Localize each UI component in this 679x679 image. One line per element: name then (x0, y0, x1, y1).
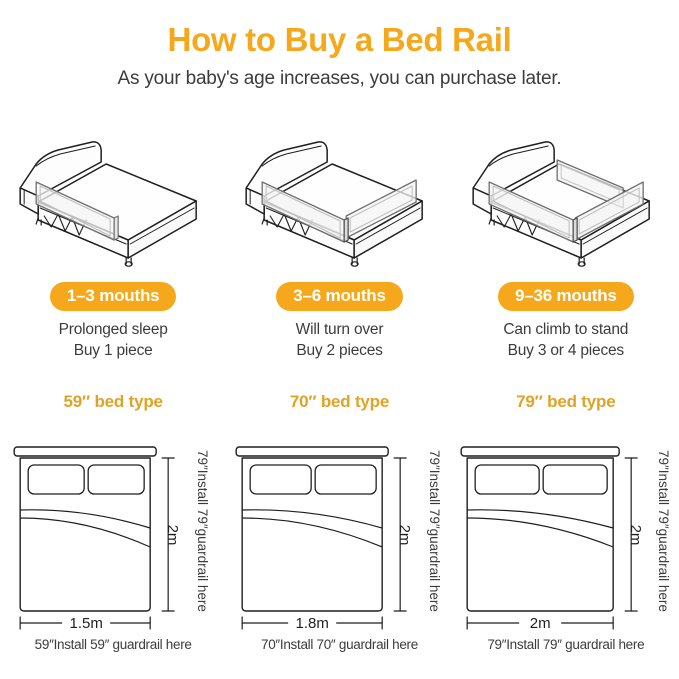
bed-plan-79-height-label: 2m (627, 525, 644, 546)
bed-plan-79-width-label: 2m (529, 615, 550, 632)
bed-type-59: 59″ bed type 2m (0, 392, 226, 662)
bed-plan-59-height-label: 2m (164, 525, 181, 546)
age-desc-2-line2: Buy 2 pieces (296, 341, 384, 362)
bed-plan-70-width-label: 1.8m (296, 615, 329, 632)
bed-type-row: 59″ bed type 2m (0, 392, 679, 662)
bed-illustration-2-rails (226, 128, 452, 268)
age-desc-3: Can climb to stand Buy 3 or 4 pieces (503, 320, 628, 362)
bed-type-70-title: 70″ bed type (290, 392, 389, 412)
age-badge-3: 9–36 mouths (498, 282, 634, 311)
age-stage-row: 1–3 mouths Prolonged sleep Buy 1 piece 3… (0, 282, 679, 362)
bed-plan-79-side-label: 79″Install 79″guardrail here (656, 450, 671, 612)
age-stage-1: 1–3 mouths Prolonged sleep Buy 1 piece (0, 282, 226, 362)
bed-plan-59-side-label: 79″Install 79″guardrail here (195, 450, 210, 612)
age-desc-1-line2: Buy 1 piece (59, 341, 168, 362)
age-badge-2: 3–6 mouths (276, 282, 402, 311)
bed-type-70: 70″ bed type 2m 79″Install 79″guardrail … (226, 392, 452, 662)
age-desc-1-line1: Prolonged sleep (59, 320, 168, 341)
bed-type-70-caption: 70″Install 70″ guardrail here (261, 637, 418, 652)
bed-plan-59-diagram: 2m 79″Install 79″guardrail here 1.5m (0, 418, 226, 633)
age-stage-2: 3–6 mouths Will turn over Buy 2 pieces (226, 282, 452, 362)
page-title: How to Buy a Bed Rail (0, 0, 679, 58)
bed-plan-70-diagram: 2m 79″Install 79″guardrail here 1.8m (226, 418, 452, 633)
age-desc-2: Will turn over Buy 2 pieces (296, 320, 384, 362)
bed-illustration-row (0, 128, 679, 268)
age-desc-2-line1: Will turn over (296, 320, 384, 341)
bed-type-59-title: 59″ bed type (64, 392, 163, 412)
bed-plan-59-width-label: 1.5m (69, 615, 102, 632)
infographic-page: How to Buy a Bed Rail As your baby's age… (0, 0, 679, 679)
bed-illustration-1-rail (0, 128, 226, 268)
bed-illustration-3-rails (453, 128, 679, 268)
age-desc-1: Prolonged sleep Buy 1 piece (59, 320, 168, 362)
age-desc-3-line1: Can climb to stand (503, 320, 628, 341)
bed-plan-70-side-label: 79″Install 79″guardrail here (427, 450, 442, 612)
page-subtitle: As your baby's age increases, you can pu… (0, 58, 679, 90)
age-stage-3: 9–36 mouths Can climb to stand Buy 3 or … (453, 282, 679, 362)
bed-type-79: 79″ bed type 2m 79″Install 79″guardrail … (453, 392, 679, 662)
age-desc-3-line2: Buy 3 or 4 pieces (503, 341, 628, 362)
bed-type-59-caption: 59″Install 59″ guardrail here (35, 637, 192, 652)
bed-plan-79-diagram: 2m 79″Install 79″guardrail here 2m (453, 418, 679, 633)
bed-plan-70-height-label: 2m (396, 525, 413, 546)
bed-type-79-title: 79″ bed type (516, 392, 615, 412)
bed-type-79-caption: 79″Install 79″ guardrail here (487, 637, 644, 652)
age-badge-1: 1–3 mouths (50, 282, 176, 311)
